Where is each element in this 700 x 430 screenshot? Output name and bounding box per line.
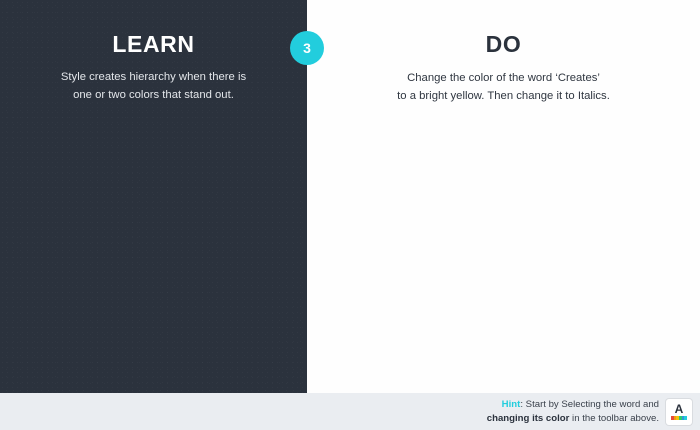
- hint-line-1: Hint: Start by Selecting the word and: [487, 398, 659, 412]
- hint-line-1-text: Start by Selecting the word and: [523, 399, 659, 410]
- hint-line-2-text: in the toolbar above.: [569, 413, 659, 424]
- do-panel-content: DO Change the color of the word ‘Creates…: [307, 0, 700, 105]
- do-panel: DO Change the color of the word ‘Creates…: [307, 0, 700, 393]
- do-body-line-2: to a bright yellow. Then change it to It…: [354, 88, 654, 106]
- step-number-badge: 3: [290, 31, 324, 65]
- text-color-icon-letter: A: [675, 403, 684, 415]
- hint-label: Hint: [502, 399, 521, 410]
- learn-body-line-2: one or two colors that stand out.: [39, 87, 269, 105]
- hint-footer-bar: Hint: Start by Selecting the word and ch…: [0, 393, 700, 430]
- hint-line-2: changing its color in the toolbar above.: [487, 412, 659, 426]
- lesson-slide: LEARN Style creates hierarchy when there…: [0, 0, 700, 430]
- hint-container: Hint: Start by Selecting the word and ch…: [487, 393, 692, 430]
- do-body-line-1: Change the color of the word ‘Creates’: [354, 70, 654, 88]
- hint-line-2-strong: changing its color: [487, 413, 570, 424]
- swatch-cyan: [684, 416, 687, 420]
- learn-panel: LEARN Style creates hierarchy when there…: [0, 0, 307, 393]
- hint-text: Hint: Start by Selecting the word and ch…: [487, 398, 659, 426]
- text-color-icon[interactable]: A: [666, 399, 692, 425]
- learn-title: LEARN: [0, 33, 307, 56]
- learn-body: Style creates hierarchy when there is on…: [39, 69, 269, 104]
- learn-panel-content: LEARN Style creates hierarchy when there…: [0, 0, 307, 104]
- do-body: Change the color of the word ‘Creates’ t…: [354, 70, 654, 105]
- learn-body-line-1: Style creates hierarchy when there is: [39, 69, 269, 87]
- do-title: DO: [307, 33, 700, 56]
- text-color-icon-swatch-bar: [671, 416, 687, 420]
